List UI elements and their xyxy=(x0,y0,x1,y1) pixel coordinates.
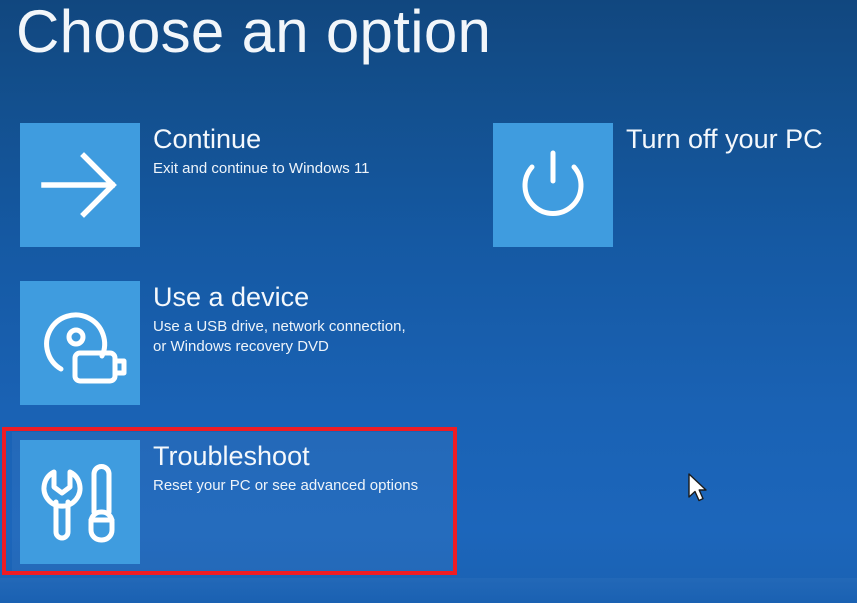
bottom-light-band xyxy=(0,578,857,603)
option-use-a-device-text: Use a device Use a USB drive, network co… xyxy=(153,281,406,357)
disc-usb-device-icon xyxy=(20,281,140,405)
choose-an-option-screen: Choose an option Continue Exit and conti… xyxy=(0,0,857,603)
option-turn-off-your-pc-title: Turn off your PC xyxy=(626,124,823,155)
option-use-a-device-subtitle-line1: Use a USB drive, network connection, xyxy=(153,317,406,337)
option-continue-text: Continue Exit and continue to Windows 11 xyxy=(153,123,370,179)
option-continue[interactable]: Continue Exit and continue to Windows 11 xyxy=(20,123,370,247)
option-use-a-device[interactable]: Use a device Use a USB drive, network co… xyxy=(20,281,406,405)
option-troubleshoot-tile[interactable] xyxy=(20,440,140,564)
option-use-a-device-subtitle-line2: or Windows recovery DVD xyxy=(153,337,406,357)
option-turn-off-your-pc-text: Turn off your PC xyxy=(626,123,823,155)
wrench-screwdriver-icon xyxy=(20,440,140,564)
option-continue-title: Continue xyxy=(153,124,370,155)
option-turn-off-your-pc[interactable]: Turn off your PC xyxy=(493,123,823,247)
power-icon xyxy=(493,123,613,247)
option-troubleshoot[interactable]: Troubleshoot Reset your PC or see advanc… xyxy=(20,440,418,564)
option-troubleshoot-subtitle: Reset your PC or see advanced options xyxy=(153,476,418,496)
page-title: Choose an option xyxy=(16,0,491,68)
arrow-right-icon xyxy=(20,123,140,247)
option-use-a-device-tile[interactable] xyxy=(20,281,140,405)
option-continue-subtitle: Exit and continue to Windows 11 xyxy=(153,159,370,179)
option-troubleshoot-text: Troubleshoot Reset your PC or see advanc… xyxy=(153,440,418,496)
option-use-a-device-title: Use a device xyxy=(153,282,406,313)
option-continue-tile[interactable] xyxy=(20,123,140,247)
option-troubleshoot-title: Troubleshoot xyxy=(153,441,418,472)
option-turn-off-your-pc-tile[interactable] xyxy=(493,123,613,247)
mouse-cursor xyxy=(686,472,708,504)
